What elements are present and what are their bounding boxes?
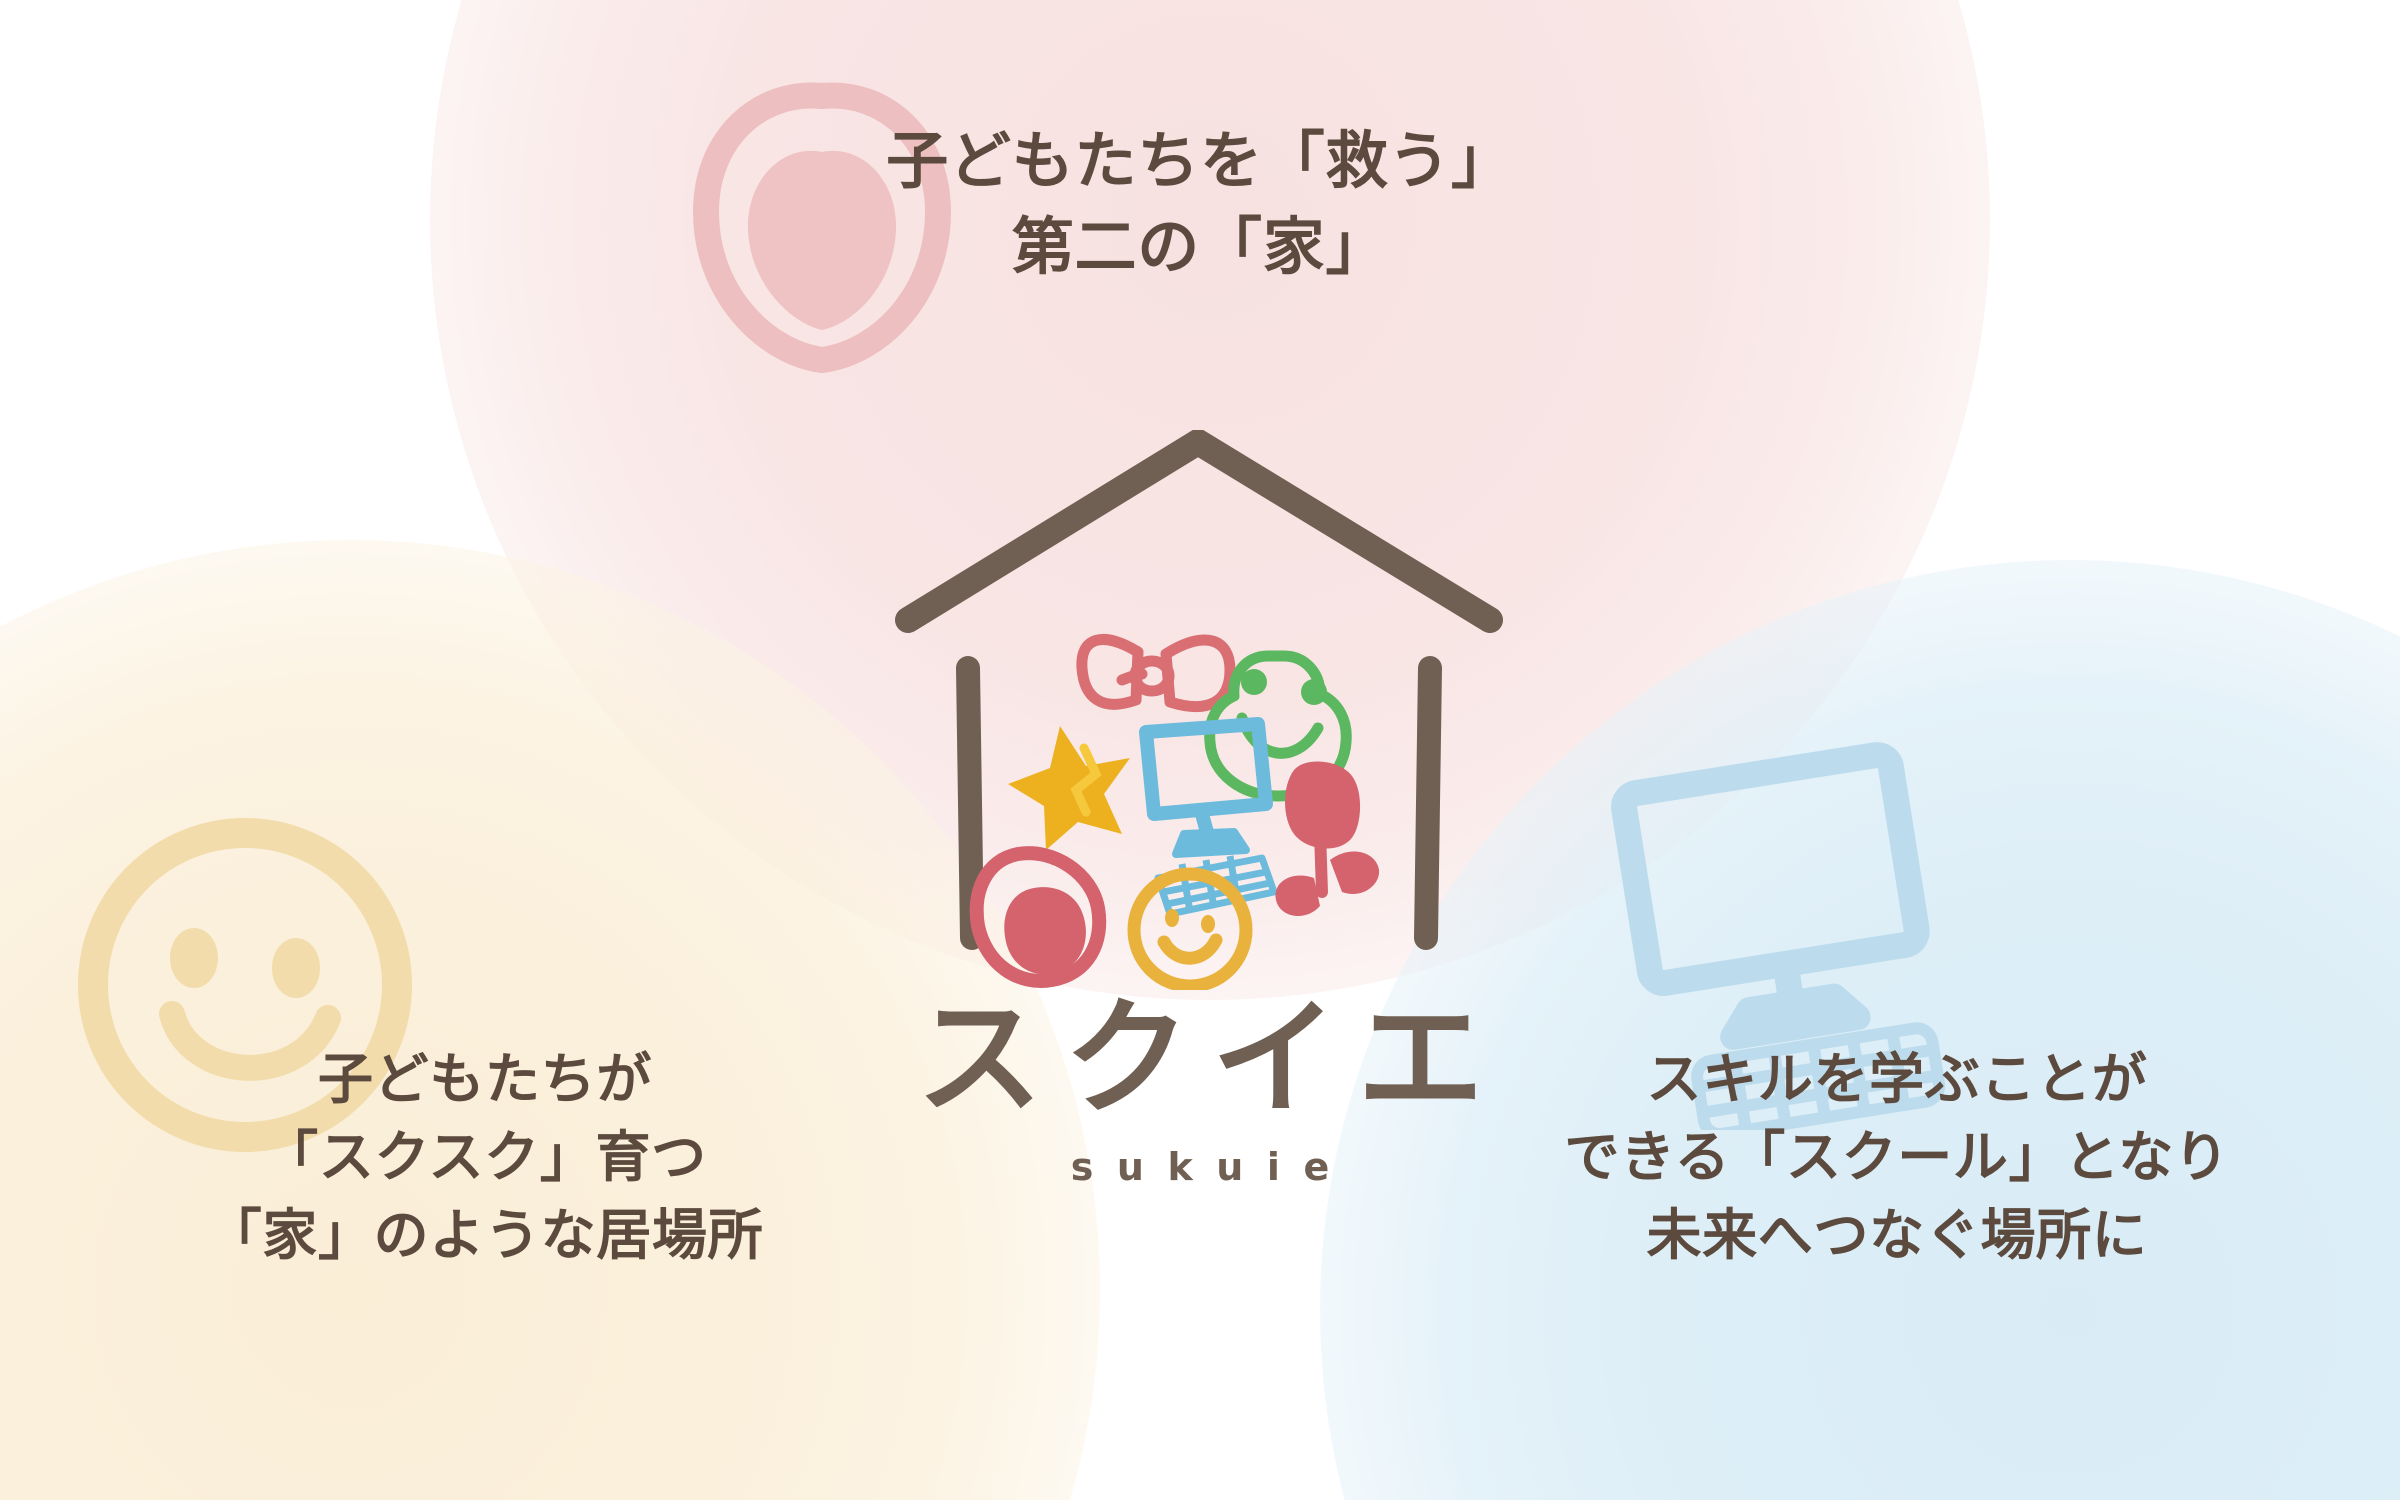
- brand-name-romaji: sukuie: [1047, 1148, 1353, 1186]
- feature-copy-left-line-1: 子どもたちが: [110, 1040, 860, 1118]
- hero-banner: 子どもたちを「救う」 第二の「家」: [0, 0, 2400, 1500]
- apple-icon: [977, 853, 1100, 981]
- tulip-flower-icon: [1275, 761, 1379, 916]
- feature-copy-left-line-3: 「家」のような居場所: [110, 1196, 860, 1274]
- brand-name-jp: スクイエ: [895, 996, 1505, 1122]
- feature-copy-right: スキルを学ぶことが できる「スクール」となり 未来へつなぐ場所に: [1472, 1040, 2322, 1274]
- feature-copy-left-line-2: 「スクスク」育つ: [110, 1118, 860, 1196]
- feature-copy-left: 子どもたちが 「スクスク」育つ 「家」のような居場所: [110, 1040, 860, 1274]
- headline-top: 子どもたちを「救う」 第二の「家」: [0, 118, 2400, 289]
- feature-copy-right-line-2: できる「スクール」となり: [1472, 1118, 2322, 1196]
- feature-copy-right-line-3: 未来へつなぐ場所に: [1472, 1196, 2322, 1274]
- ribbon-bow-icon: [1082, 639, 1230, 706]
- headline-top-line-2: 第二の「家」: [0, 204, 2400, 290]
- feature-copy-right-line-1: スキルを学ぶことが: [1472, 1040, 2322, 1118]
- house-with-children-doodles-icon: [890, 430, 1510, 990]
- headline-top-line-1: 子どもたちを「救う」: [0, 118, 2400, 204]
- star-icon: [1008, 726, 1130, 850]
